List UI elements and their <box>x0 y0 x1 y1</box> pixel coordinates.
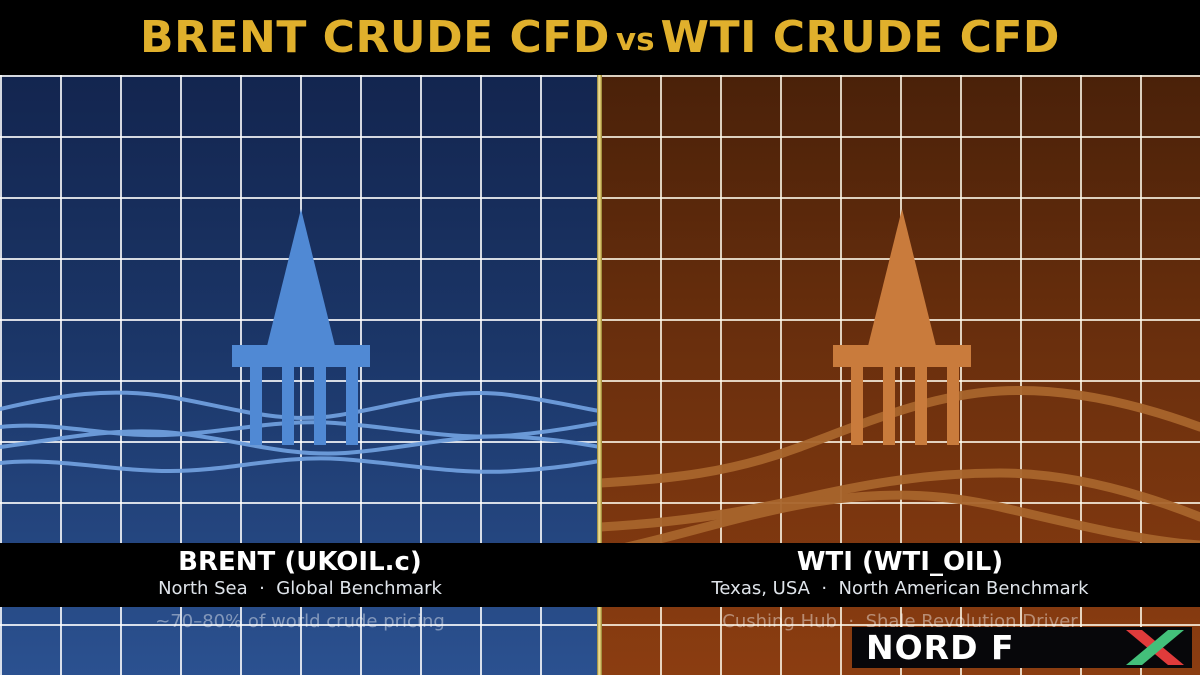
nordfx-x-icon <box>1124 629 1186 666</box>
comparison-graphic: BRENT CRUDE CFD vs WTI CRUDE CFD <box>0 0 1200 675</box>
instrument-name-brent: BRENT (UKOIL.c) <box>178 549 422 576</box>
title-right-instrument: WTI CRUDE CFD <box>661 16 1060 60</box>
nordfx-wordmark: NORD F <box>866 631 1015 664</box>
label-band-wti: WTI (WTI_OIL) Texas, USA · North America… <box>600 543 1200 607</box>
oil-rig-icon-wti <box>833 205 971 455</box>
oil-rig-icon-brent <box>232 205 370 455</box>
title-vs-separator: vs <box>610 25 661 56</box>
instrument-subtitle-brent: North Sea · Global Benchmark <box>158 578 442 601</box>
label-band-brent: BRENT (UKOIL.c) North Sea · Global Bench… <box>0 543 600 607</box>
instrument-subtitle-wti: Texas, USA · North American Benchmark <box>711 578 1088 601</box>
nordfx-logo[interactable]: NORD F <box>852 627 1192 668</box>
title-left-instrument: BRENT CRUDE CFD <box>140 16 610 60</box>
instrument-name-wti: WTI (WTI_OIL) <box>797 549 1003 576</box>
panel-note-brent: ~70–80% of world crude pricing <box>0 607 600 635</box>
page-title: BRENT CRUDE CFD vs WTI CRUDE CFD <box>0 0 1200 75</box>
